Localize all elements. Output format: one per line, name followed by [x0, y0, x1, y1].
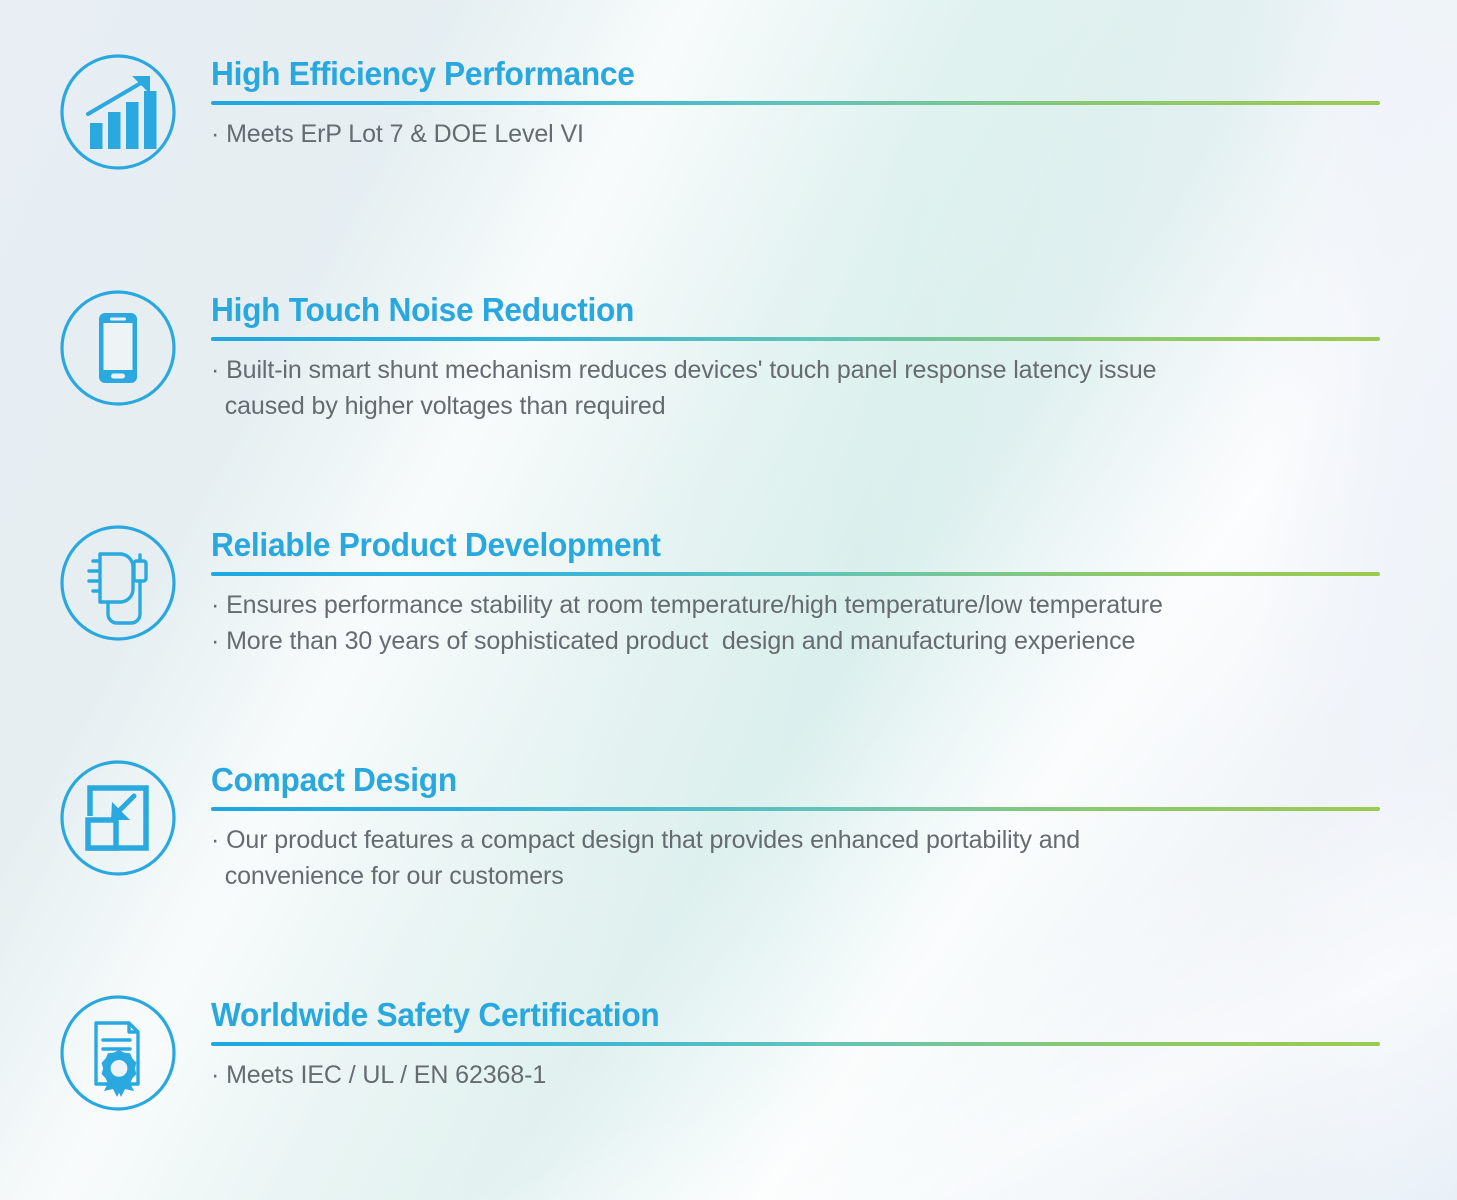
- feature-title: Compact Design: [211, 762, 1333, 798]
- feature-list-page: High Efficiency Performance · Meets ErP …: [0, 0, 1457, 1200]
- feature-body: Compact Design · Our product features a …: [178, 758, 1380, 894]
- smartphone-icon: [58, 288, 178, 408]
- feature-bullet-list: · Meets ErP Lot 7 & DOE Level VI: [211, 117, 1380, 153]
- feature-item-reliable-product-development: Reliable Product Development · Ensures p…: [58, 523, 1380, 659]
- feature-item-worldwide-safety-certification: Worldwide Safety Certification · Meets I…: [58, 993, 1380, 1113]
- feature-item-high-efficiency-performance: High Efficiency Performance · Meets ErP …: [58, 52, 1380, 172]
- feature-bullet-list: · Our product features a compact design …: [211, 823, 1380, 894]
- power-adapter-icon: [58, 523, 178, 643]
- feature-bullet-line: · Meets IEC / UL / EN 62368-1: [211, 1058, 1380, 1094]
- feature-item-high-touch-noise-reduction: High Touch Noise Reduction · Built-in sm…: [58, 288, 1380, 424]
- feature-bullet-line: · Meets ErP Lot 7 & DOE Level VI: [211, 117, 1380, 153]
- feature-divider-rule: [211, 807, 1380, 811]
- feature-title: Reliable Product Development: [211, 527, 1333, 563]
- feature-body: High Touch Noise Reduction · Built-in sm…: [178, 288, 1380, 424]
- feature-bullet-line: · Built-in smart shunt mechanism reduces…: [211, 353, 1380, 389]
- feature-bullet-list: · Meets IEC / UL / EN 62368-1: [211, 1058, 1380, 1094]
- feature-title: High Efficiency Performance: [211, 56, 1333, 92]
- feature-bullet-line: · More than 30 years of sophisticated pr…: [211, 624, 1380, 660]
- feature-divider-rule: [211, 101, 1380, 105]
- feature-bullet-line: convenience for our customers: [211, 859, 1380, 895]
- feature-bullet-list: · Ensures performance stability at room …: [211, 588, 1380, 659]
- feature-item-compact-design: Compact Design · Our product features a …: [58, 758, 1380, 894]
- feature-divider-rule: [211, 1042, 1380, 1046]
- feature-bullet-line: · Our product features a compact design …: [211, 823, 1380, 859]
- feature-title: Worldwide Safety Certification: [211, 997, 1333, 1033]
- feature-body: Reliable Product Development · Ensures p…: [178, 523, 1380, 659]
- certificate-award-icon: [58, 993, 178, 1113]
- feature-divider-rule: [211, 337, 1380, 341]
- feature-body: High Efficiency Performance · Meets ErP …: [178, 52, 1380, 153]
- feature-divider-rule: [211, 572, 1380, 576]
- bar-chart-growth-icon: [58, 52, 178, 172]
- feature-bullet-line: · Ensures performance stability at room …: [211, 588, 1380, 624]
- feature-bullet-list: · Built-in smart shunt mechanism reduces…: [211, 353, 1380, 424]
- compact-resize-icon: [58, 758, 178, 878]
- feature-bullet-line: caused by higher voltages than required: [211, 389, 1380, 425]
- feature-title: High Touch Noise Reduction: [211, 292, 1333, 328]
- feature-body: Worldwide Safety Certification · Meets I…: [178, 993, 1380, 1094]
